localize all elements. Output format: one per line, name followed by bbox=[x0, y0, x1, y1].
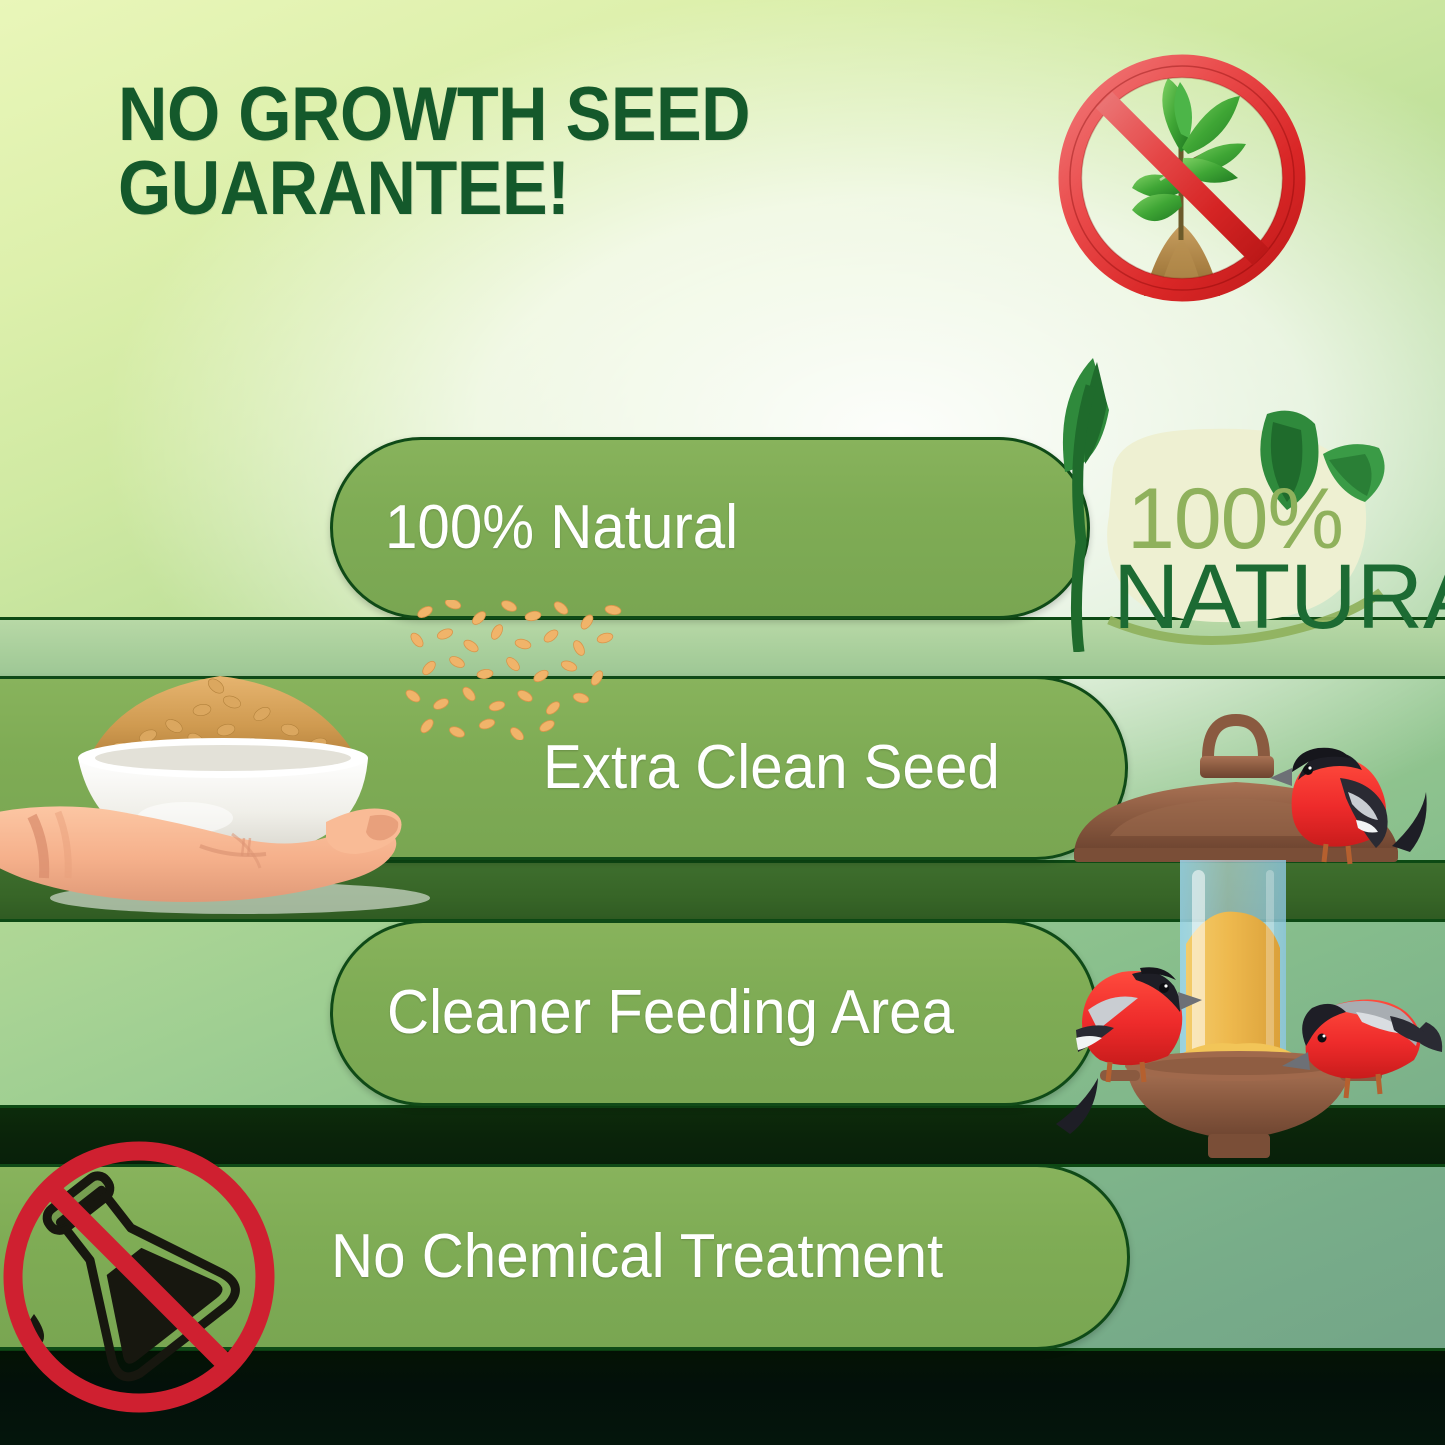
feature-pill-natural[interactable]: 100% Natural bbox=[330, 437, 1090, 619]
svg-text:NATURAL: NATURAL bbox=[1113, 546, 1445, 648]
feature-label-cleaner-area: Cleaner Feeding Area bbox=[387, 982, 954, 1044]
headline-line-1: NO GROWTH SEED bbox=[118, 78, 910, 152]
no-plant-growth-icon bbox=[1048, 48, 1316, 308]
100-percent-natural-badge: 100% NATURAL bbox=[1035, 352, 1445, 652]
feature-label-extra-clean: Extra Clean Seed bbox=[543, 737, 1000, 799]
feature-pill-cleaner-area[interactable]: Cleaner Feeding Area bbox=[330, 920, 1098, 1106]
hand-holding-bowl-of-seed bbox=[0, 640, 530, 920]
feature-label-natural: 100% Natural bbox=[385, 497, 738, 559]
page-title: NO GROWTH SEED GUARANTEE! bbox=[118, 78, 910, 227]
no-chemical-icon bbox=[0, 1132, 284, 1422]
infographic-canvas: NO GROWTH SEED GUARANTEE! bbox=[0, 0, 1445, 1445]
feature-label-no-chemical: No Chemical Treatment bbox=[331, 1226, 943, 1288]
bird-feeder-with-bullfinches bbox=[1040, 700, 1445, 1180]
headline-line-2: GUARANTEE! bbox=[118, 152, 910, 226]
